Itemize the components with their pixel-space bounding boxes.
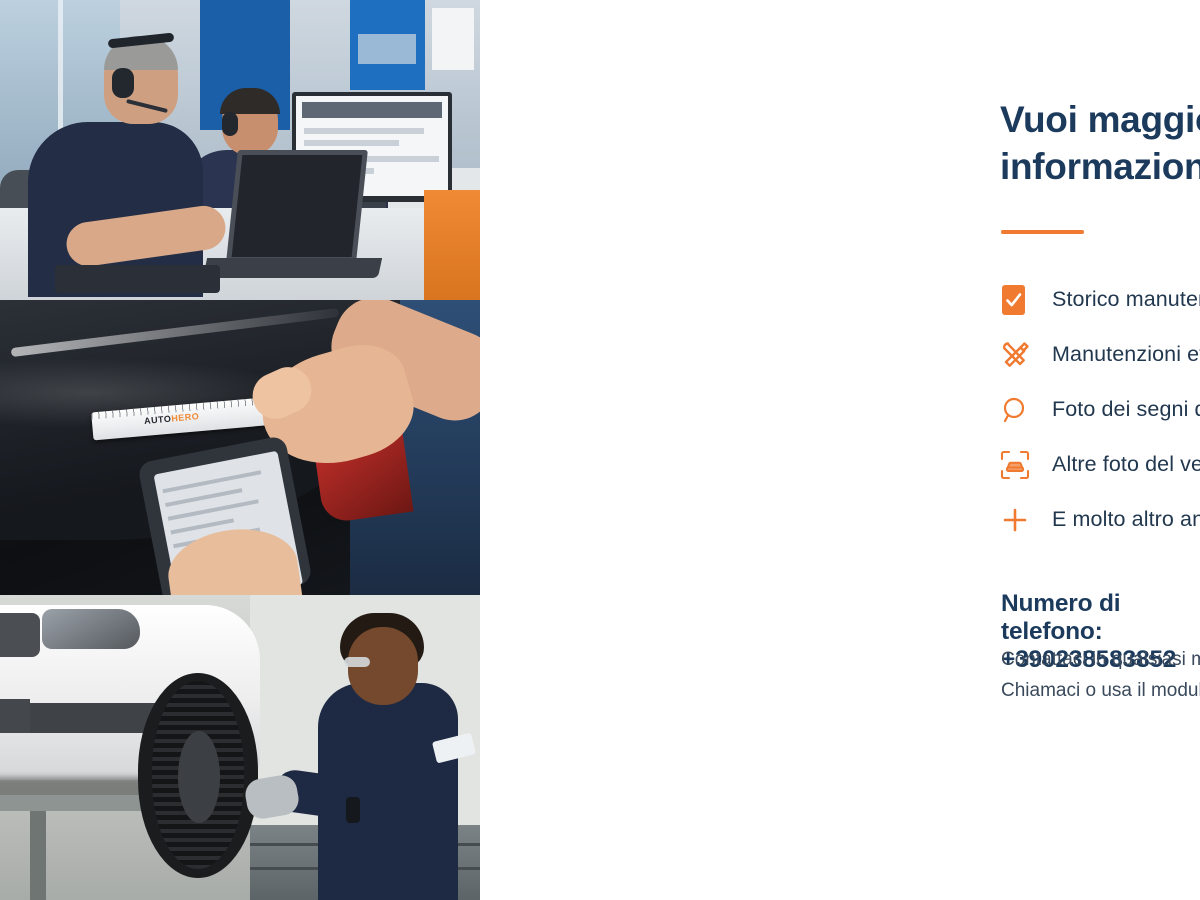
feature-label: Manutenzioni effettuate xyxy=(1052,342,1200,367)
feature-item-altro: E molto altro ancora xyxy=(1000,492,1200,547)
car-scan-icon xyxy=(1000,450,1052,480)
feature-label: Storico manutentivo xyxy=(1052,287,1200,312)
magnifier-icon xyxy=(1000,395,1052,425)
feature-list: Storico manutentivo Manutenzioni effettu… xyxy=(1000,272,1200,547)
tools-cross-icon xyxy=(1000,339,1052,371)
feature-label: Foto dei segni di usura xyxy=(1052,397,1200,422)
call-center-agents-photo: Operatori con cuffie al call center dava… xyxy=(0,0,480,300)
contact-description: Contattaci in qualsiasi momento per ulte… xyxy=(1001,645,1200,707)
title-divider xyxy=(1001,230,1084,234)
plus-icon xyxy=(1000,505,1052,535)
feature-item-manutenzioni: Manutenzioni effettuate xyxy=(1000,327,1200,382)
vehicle-inspection-photo: AUTOHERO Righello Autohero appoggiato al… xyxy=(0,300,480,595)
page-title: Vuoi maggiori informazioni su ? xyxy=(1000,96,1200,191)
workshop-tyre-photo: Meccanico al lavoro sullo pneumatico di … xyxy=(0,595,480,900)
contact-line-1: Contattaci in qualsiasi momento per ulte… xyxy=(1001,645,1200,676)
feature-item-foto-usura: Foto dei segni di usura xyxy=(1000,382,1200,437)
content-panel: Vuoi maggiori informazioni su ? Saremo f… xyxy=(480,0,1200,900)
feature-item-storico: Storico manutentivo xyxy=(1000,272,1200,327)
photo-column: Operatori con cuffie al call center dava… xyxy=(0,0,480,900)
feature-label: Altre foto del veicolo xyxy=(1052,452,1200,477)
feature-item-altre-foto: Altre foto del veicolo xyxy=(1000,437,1200,492)
contact-line-2: Chiamaci o usa il modulo di contatto. xyxy=(1001,676,1200,707)
feature-label: E molto altro ancora xyxy=(1052,507,1200,532)
promo-banner: Operatori con cuffie al call center dava… xyxy=(0,0,1200,900)
document-check-icon xyxy=(1000,284,1052,316)
